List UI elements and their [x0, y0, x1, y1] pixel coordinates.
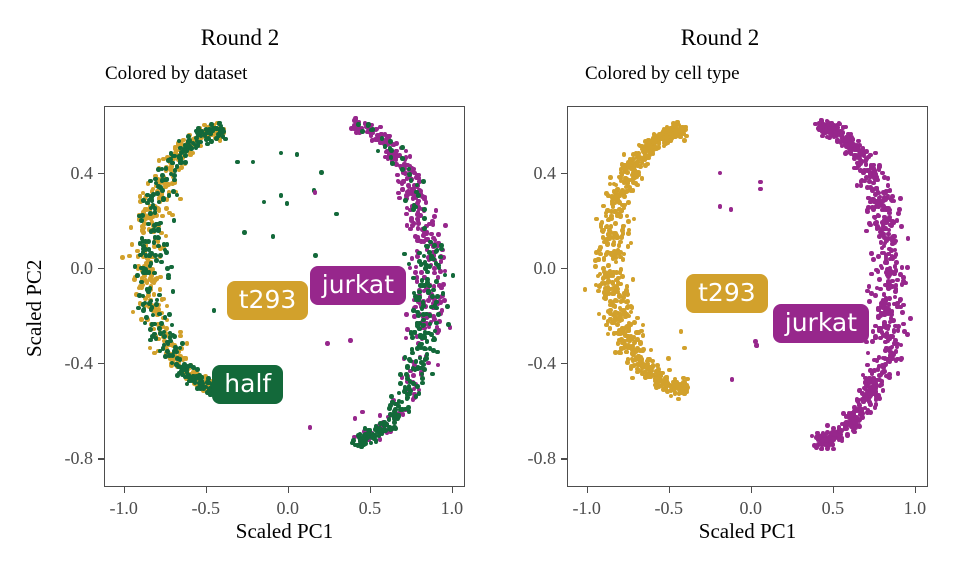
- scatter-point: [405, 190, 410, 195]
- scatter-point: [390, 161, 395, 166]
- scatter-point: [616, 199, 621, 204]
- scatter-point: [880, 246, 885, 251]
- scatter-point: [427, 264, 432, 269]
- scatter-point: [626, 231, 631, 236]
- scatter-point: [630, 376, 635, 381]
- scatter-point: [629, 188, 634, 193]
- scatter-point: [158, 253, 163, 258]
- scatter-point: [411, 373, 416, 378]
- scatter-point: [877, 234, 882, 239]
- scatter-point: [622, 252, 627, 257]
- scatter-point: [618, 270, 623, 275]
- scatter-point: [205, 131, 210, 136]
- scatter-point: [143, 321, 148, 326]
- scatter-point: [398, 372, 403, 377]
- scatter-point: [631, 277, 636, 282]
- scatter-point: [169, 265, 174, 270]
- scatter-point: [155, 191, 160, 196]
- scatter-point: [417, 251, 422, 256]
- scatter-point: [886, 176, 891, 181]
- scatter-point: [654, 146, 659, 151]
- scatter-point: [207, 387, 212, 392]
- scatter-point: [308, 425, 313, 430]
- scatter-point: [824, 128, 829, 133]
- scatter-point: [825, 430, 830, 435]
- scatter-point: [402, 179, 407, 184]
- scatter-point: [175, 164, 180, 169]
- scatter-point: [436, 232, 441, 237]
- scatter-point: [651, 151, 656, 156]
- scatter-point: [654, 376, 659, 381]
- scatter-point: [408, 359, 413, 364]
- scatter-point: [905, 332, 910, 337]
- scatter-point: [906, 236, 911, 241]
- scatter-point: [885, 217, 890, 222]
- scatter-point: [173, 168, 178, 173]
- scatter-point: [621, 312, 626, 317]
- scatter-point: [428, 346, 433, 351]
- scatter-point: [596, 289, 601, 294]
- scatter-point: [387, 417, 392, 422]
- scatter-point: [640, 176, 645, 181]
- panel-colored-by-cell-type: Round 2 Colored by cell type Scaled PC1 …: [480, 0, 960, 576]
- scatter-point: [859, 179, 864, 184]
- x-axis-tick: [288, 487, 289, 493]
- scatter-point: [159, 260, 164, 265]
- x-axis-tick-label: 0.5: [822, 499, 845, 517]
- scatter-point: [643, 139, 648, 144]
- scatter-point: [423, 347, 428, 352]
- scatter-point: [403, 355, 408, 360]
- scatter-point: [625, 324, 630, 329]
- scatter-point: [352, 127, 357, 132]
- scatter-point: [624, 290, 629, 295]
- scatter-point: [621, 257, 626, 262]
- scatter-point: [844, 426, 849, 431]
- scatter-point: [635, 183, 640, 188]
- scatter-point: [167, 312, 172, 317]
- scatter-point: [133, 264, 138, 269]
- scatter-point: [867, 391, 872, 396]
- scatter-point: [900, 310, 905, 315]
- scatter-point: [649, 348, 654, 353]
- cluster-label-half: half: [212, 365, 283, 404]
- scatter-point: [162, 297, 167, 302]
- scatter-point: [138, 253, 143, 258]
- scatter-point: [629, 346, 634, 351]
- scatter-point: [891, 219, 896, 224]
- scatter-point: [614, 260, 619, 265]
- x-axis-tick-label: 0.0: [740, 499, 763, 517]
- scatter-point: [424, 356, 429, 361]
- scatter-point: [866, 351, 871, 356]
- scatter-point: [416, 210, 421, 215]
- scatter-point: [634, 330, 639, 335]
- x-axis-tick-label: -0.5: [654, 499, 683, 517]
- scatter-point: [899, 343, 904, 348]
- scatter-point: [820, 134, 825, 139]
- scatter-point: [136, 306, 141, 311]
- scatter-point: [645, 162, 650, 167]
- scatter-point: [612, 196, 617, 201]
- scatter-point: [892, 272, 897, 277]
- scatter-point: [279, 151, 284, 156]
- scatter-point: [405, 395, 410, 400]
- y-axis-tick-label: 0.0: [534, 259, 557, 277]
- scatter-point: [370, 138, 375, 143]
- scatter-point: [127, 254, 132, 259]
- scatter-point: [900, 282, 905, 287]
- scatter-point: [146, 239, 151, 244]
- scatter-point: [619, 299, 624, 304]
- scatter-point: [191, 378, 196, 383]
- y-axis-tick: [98, 268, 104, 269]
- scatter-point: [644, 370, 649, 375]
- scatter-point: [641, 333, 646, 338]
- scatter-point: [625, 284, 630, 289]
- scatter-point: [880, 363, 885, 368]
- scatter-point: [147, 247, 152, 252]
- scatter-point: [141, 198, 146, 203]
- scatter-point: [653, 134, 658, 139]
- scatter-point: [422, 207, 427, 212]
- scatter-point: [170, 323, 175, 328]
- y-axis-tick: [561, 173, 567, 174]
- scatter-point: [397, 391, 402, 396]
- scatter-point: [152, 271, 157, 276]
- scatter-point: [682, 346, 687, 351]
- x-axis-tick: [833, 487, 834, 493]
- scatter-point: [855, 183, 860, 188]
- scatter-point: [635, 160, 640, 165]
- scatter-point: [403, 198, 408, 203]
- scatter-point: [436, 363, 441, 368]
- scatter-point: [442, 298, 447, 303]
- y-axis-tick-label: -0.8: [528, 449, 557, 467]
- scatter-point: [883, 197, 888, 202]
- scatter-point: [162, 178, 167, 183]
- scatter-point: [620, 228, 625, 233]
- scatter-point: [886, 183, 891, 188]
- scatter-point: [868, 223, 873, 228]
- scatter-point: [890, 334, 895, 339]
- scatter-point: [831, 126, 836, 131]
- x-axis-tick-label: 1.0: [904, 499, 927, 517]
- scatter-point: [661, 387, 666, 392]
- y-axis-tick-label: 0.4: [534, 164, 557, 182]
- scatter-point: [887, 296, 892, 301]
- scatter-point: [422, 231, 427, 236]
- scatter-point: [608, 303, 613, 308]
- y-axis-tick-label: -0.8: [65, 449, 94, 467]
- scatter-point: [400, 187, 405, 192]
- scatter-point: [894, 252, 899, 257]
- scatter-point: [435, 350, 440, 355]
- scatter-point: [596, 257, 601, 262]
- scatter-point: [410, 256, 415, 261]
- scatter-point: [886, 311, 891, 316]
- scatter-point: [161, 346, 166, 351]
- scatter-point: [626, 357, 631, 362]
- scatter-point: [418, 366, 423, 371]
- scatter-point: [417, 259, 422, 264]
- y-axis-tick-label: 0.4: [71, 164, 94, 182]
- scatter-point: [894, 260, 899, 265]
- scatter-point: [896, 211, 901, 216]
- scatter-point: [436, 263, 441, 268]
- scatter-point: [178, 357, 183, 362]
- scatter-point: [875, 178, 880, 183]
- scatter-point: [410, 335, 415, 340]
- y-axis-title: Scaled PC2: [22, 260, 47, 357]
- scatter-point: [620, 274, 625, 279]
- y-axis-tick-label: -0.4: [528, 354, 557, 372]
- scatter-point: [167, 193, 172, 198]
- scatter-point: [896, 328, 901, 333]
- scatter-point: [899, 358, 904, 363]
- scatter-point: [262, 200, 267, 205]
- scatter-point: [251, 160, 256, 165]
- scatter-point: [892, 199, 897, 204]
- panel-title: Round 2: [0, 24, 480, 51]
- scatter-point: [864, 157, 869, 162]
- x-axis-title: Scaled PC1: [104, 519, 465, 544]
- scatter-point: [845, 433, 850, 438]
- scatter-point: [148, 327, 153, 332]
- scatter-point: [598, 252, 603, 257]
- scatter-point: [172, 173, 177, 178]
- scatter-point: [872, 215, 877, 220]
- scatter-point: [638, 164, 643, 169]
- scatter-point: [879, 382, 884, 387]
- scatter-point: [285, 201, 290, 206]
- y-axis-tick-label: -0.4: [65, 354, 94, 372]
- scatter-point: [857, 424, 862, 429]
- scatter-point: [404, 336, 409, 341]
- scatter-point: [148, 346, 153, 351]
- scatter-point: [414, 265, 419, 270]
- scatter-point: [416, 193, 421, 198]
- scatter-point: [389, 155, 394, 160]
- scatter-point: [616, 280, 621, 285]
- scatter-point: [212, 308, 217, 313]
- scatter-point: [621, 165, 626, 170]
- scatter-point: [758, 180, 763, 185]
- scatter-point: [407, 172, 412, 177]
- scatter-point: [655, 370, 660, 375]
- scatter-point: [426, 361, 431, 366]
- scatter-point: [857, 403, 862, 408]
- scatter-point: [868, 200, 873, 205]
- scatter-point: [895, 305, 900, 310]
- scatter-point: [178, 197, 183, 202]
- scatter-point: [434, 279, 439, 284]
- scatter-point: [441, 291, 446, 296]
- scatter-point: [718, 204, 723, 209]
- scatter-point: [144, 315, 149, 320]
- scatter-point: [416, 313, 421, 318]
- scatter-point: [149, 195, 154, 200]
- scatter-point: [157, 326, 162, 331]
- scatter-point: [657, 141, 662, 146]
- scatter-point: [185, 341, 190, 346]
- scatter-point: [618, 214, 623, 219]
- scatter-point: [866, 196, 871, 201]
- y-axis-tick: [98, 363, 104, 364]
- scatter-point: [685, 390, 690, 395]
- scatter-point: [820, 446, 825, 451]
- y-axis-tick: [561, 458, 567, 459]
- scatter-point: [410, 223, 415, 228]
- x-axis-tick: [206, 487, 207, 493]
- scatter-point: [426, 290, 431, 295]
- panel-title: Round 2: [480, 24, 960, 51]
- scatter-point: [845, 145, 850, 150]
- scatter-point: [609, 251, 614, 256]
- scatter-point: [623, 203, 628, 208]
- scatter-point: [894, 283, 899, 288]
- scatter-point: [857, 388, 862, 393]
- scatter-point: [852, 147, 857, 152]
- scatter-point: [868, 402, 873, 407]
- scatter-point: [378, 421, 383, 426]
- scatter-point: [378, 413, 383, 418]
- scatter-point: [618, 240, 623, 245]
- scatter-point: [174, 350, 179, 355]
- scatter-point: [152, 292, 157, 297]
- scatter-point: [852, 405, 857, 410]
- scatter-point: [600, 281, 605, 286]
- scatter-point: [139, 218, 144, 223]
- scatter-point: [373, 427, 378, 432]
- scatter-point: [606, 332, 611, 337]
- scatter-point: [396, 414, 401, 419]
- x-axis-tick-label: -1.0: [109, 499, 138, 517]
- scatter-point: [583, 287, 588, 292]
- scatter-point: [868, 410, 873, 415]
- scatter-point: [214, 136, 219, 141]
- scatter-point: [376, 149, 381, 154]
- scatter-point: [178, 330, 183, 335]
- scatter-point: [432, 214, 437, 219]
- scatter-point: [613, 310, 618, 315]
- scatter-point: [421, 179, 426, 184]
- scatter-point: [675, 120, 680, 125]
- scatter-point: [180, 341, 185, 346]
- x-axis-tick: [751, 487, 752, 493]
- scatter-point: [156, 167, 161, 172]
- scatter-point: [616, 250, 621, 255]
- scatter-point: [422, 216, 427, 221]
- scatter-point: [150, 322, 155, 327]
- scatter-point: [436, 312, 441, 317]
- scatter-point: [210, 127, 215, 132]
- scatter-point: [181, 364, 186, 369]
- scatter-point: [865, 378, 870, 383]
- scatter-point: [598, 245, 603, 250]
- scatter-point: [415, 310, 420, 315]
- scatter-point: [186, 139, 191, 144]
- scatter-point: [606, 232, 611, 237]
- scatter-point: [414, 394, 419, 399]
- scatter-point: [901, 322, 906, 327]
- scatter-point: [424, 200, 429, 205]
- scatter-point: [883, 260, 888, 265]
- scatter-point: [865, 208, 870, 213]
- scatter-point: [864, 149, 869, 154]
- scatter-point: [162, 242, 167, 247]
- scatter-point: [666, 356, 671, 361]
- scatter-point: [434, 208, 439, 213]
- scatter-point: [145, 287, 150, 292]
- scatter-point: [170, 213, 175, 218]
- y-axis-tick: [98, 173, 104, 174]
- scatter-point: [883, 190, 888, 195]
- scatter-point: [616, 341, 621, 346]
- cluster-label-t293: t293: [686, 274, 768, 313]
- scatter-point: [608, 175, 613, 180]
- scatter-point: [730, 377, 735, 382]
- scatter-point: [868, 368, 873, 373]
- scatter-point: [425, 244, 430, 249]
- scatter-point: [618, 331, 623, 336]
- scatter-point: [606, 309, 611, 314]
- scatter-point: [350, 441, 355, 446]
- scatter-point: [626, 219, 631, 224]
- scatter-point: [886, 280, 891, 285]
- scatter-point: [681, 380, 686, 385]
- scatter-point: [898, 298, 903, 303]
- scatter-point: [431, 288, 436, 293]
- scatter-point: [610, 291, 615, 296]
- scatter-point: [641, 323, 646, 328]
- scatter-point: [420, 381, 425, 386]
- scatter-point: [869, 251, 874, 256]
- scatter-point: [430, 294, 435, 299]
- scatter-point: [400, 145, 405, 150]
- scatter-point: [400, 400, 405, 405]
- scatter-point: [409, 330, 414, 335]
- scatter-point: [413, 294, 418, 299]
- scatter-point: [397, 196, 402, 201]
- scatter-point: [156, 236, 161, 241]
- scatter-point: [593, 264, 598, 269]
- scatter-point: [195, 367, 200, 372]
- scatter-point: [204, 137, 209, 142]
- scatter-point: [414, 359, 419, 364]
- scatter-point: [608, 326, 613, 331]
- scatter-point: [648, 145, 653, 150]
- scatter-point: [625, 181, 630, 186]
- scatter-point: [849, 424, 854, 429]
- scatter-point: [221, 134, 226, 139]
- scatter-point: [814, 445, 819, 450]
- scatter-point: [166, 273, 171, 278]
- scatter-point: [313, 253, 318, 258]
- scatter-point: [319, 170, 324, 175]
- scatter-point: [159, 321, 164, 326]
- scatter-point: [156, 227, 161, 232]
- scatter-point: [905, 265, 910, 270]
- scatter-point: [353, 416, 358, 421]
- scatter-point: [400, 156, 405, 161]
- scatter-point: [669, 394, 674, 399]
- scatter-point: [405, 364, 410, 369]
- scatter-point: [195, 386, 200, 391]
- scatter-point: [865, 363, 870, 368]
- scatter-point: [334, 212, 339, 217]
- scatter-point: [141, 308, 146, 313]
